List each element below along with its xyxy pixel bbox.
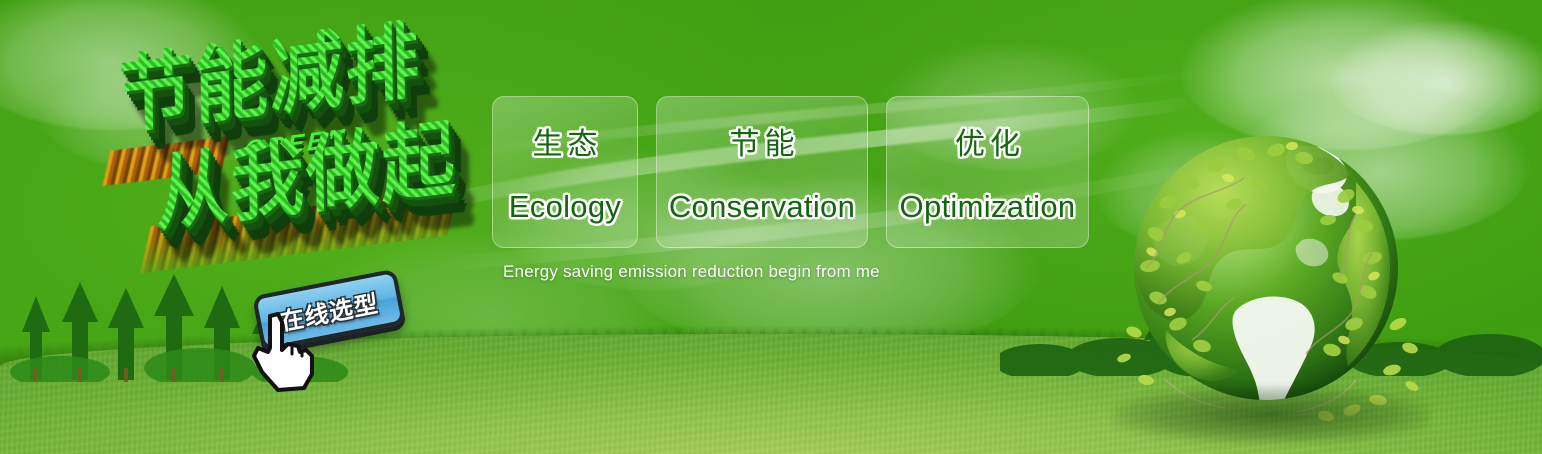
- feature-card-title-en: Optimization: [900, 189, 1076, 225]
- feature-card-optimization[interactable]: 优化 Optimization: [886, 96, 1089, 248]
- online-selection-cta[interactable]: 在线选型: [256, 276, 426, 368]
- banner-tagline: Energy saving emission reduction begin f…: [503, 262, 880, 282]
- feature-card-title-cn: 节能: [725, 119, 800, 163]
- feature-card-conservation[interactable]: 节能 Conservation: [656, 96, 868, 248]
- eco-promo-banner: 节能减排 GREEN 从我做起 在线选型 生态 Ecology 节能 Conse…: [0, 0, 1542, 454]
- headline-artwork: 节能减排 GREEN 从我做起: [96, 26, 496, 276]
- feature-card-ecology[interactable]: 生态 Ecology: [492, 96, 638, 248]
- globe-ground-shadow: [1112, 386, 1430, 444]
- leaf-globe-artwork: [1106, 118, 1436, 448]
- feature-card-title-cn: 生态: [528, 119, 603, 163]
- hand-pointer-icon: [248, 310, 326, 394]
- feature-card-list: 生态 Ecology 节能 Conservation 优化 Optimizati…: [492, 96, 1089, 248]
- feature-card-title-cn: 优化: [950, 119, 1025, 163]
- feature-card-title-en: Ecology: [509, 189, 621, 225]
- feature-card-title-en: Conservation: [669, 189, 855, 225]
